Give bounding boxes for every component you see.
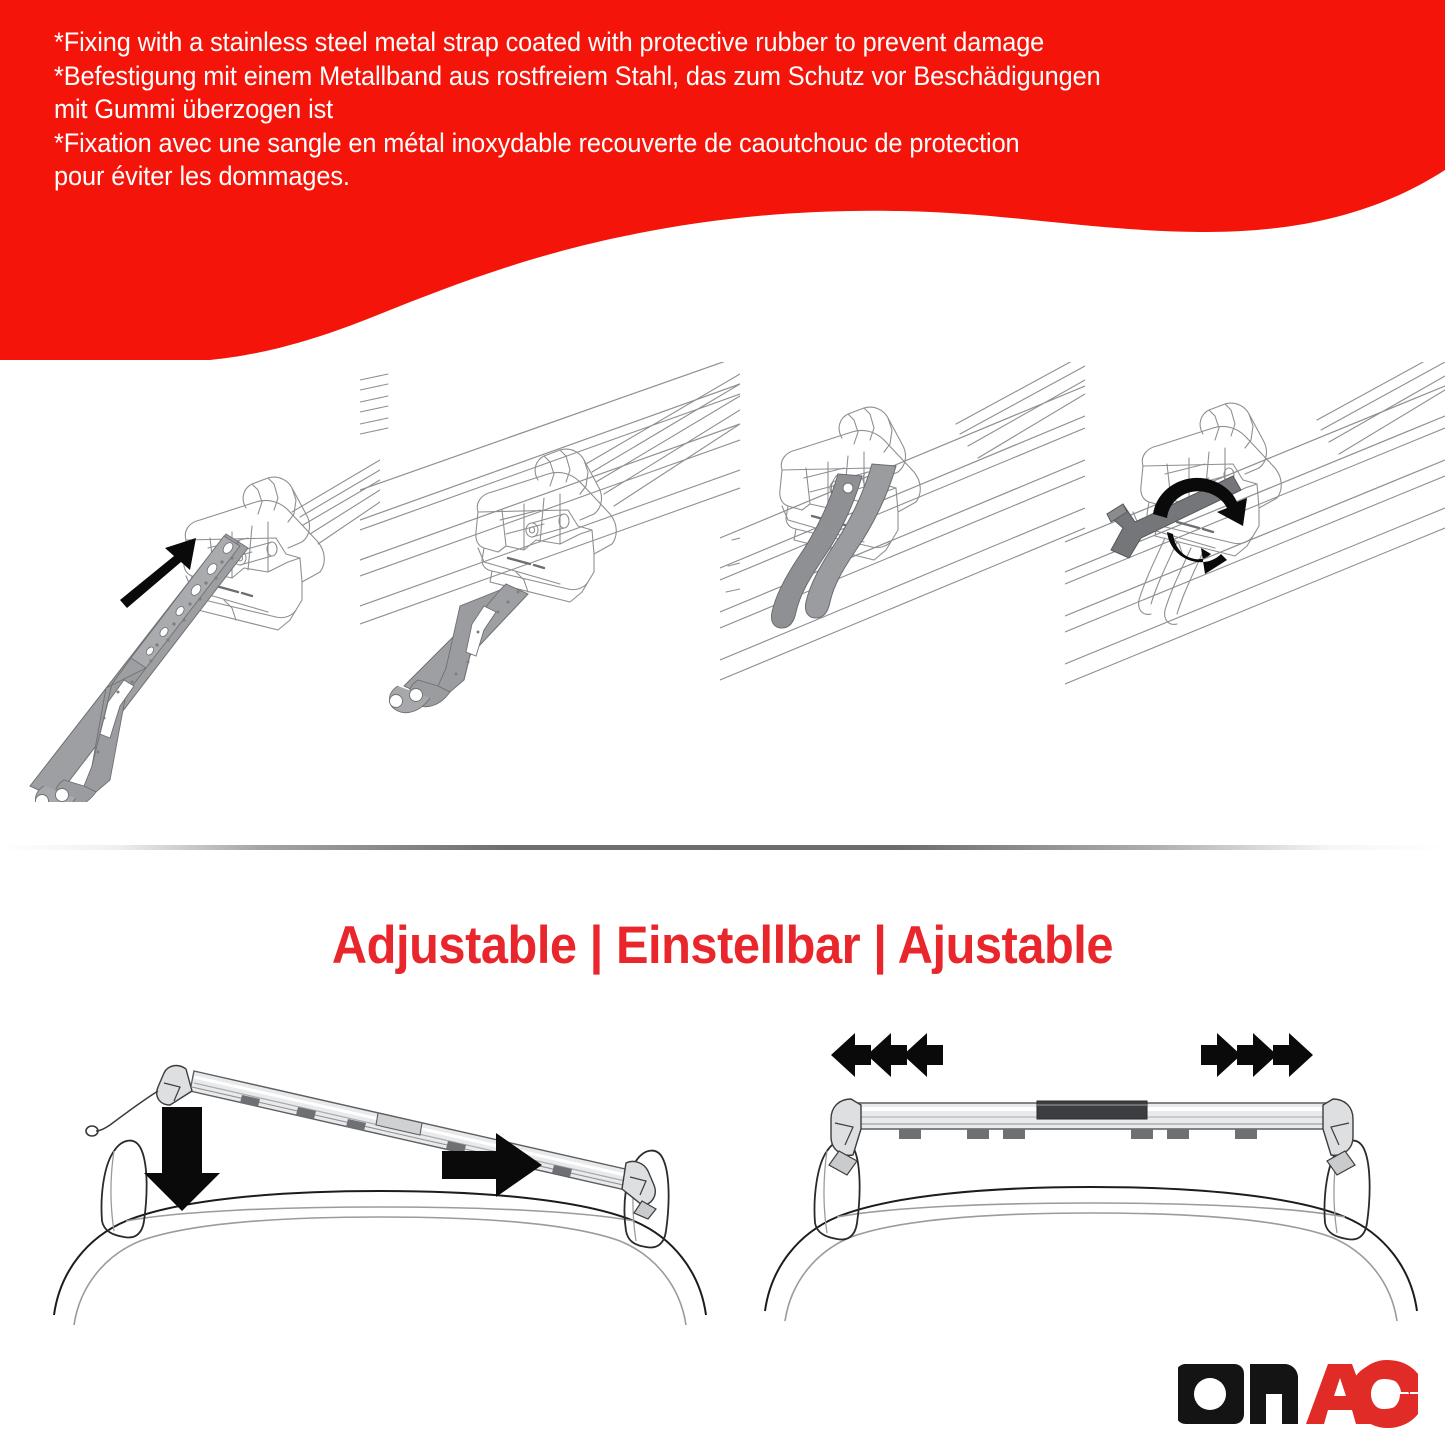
omac-logo-mark [1178, 1358, 1418, 1430]
banner: *Fixing with a stainless steel metal str… [0, 0, 1445, 360]
metal-strap [389, 584, 528, 713]
triple-right-arrow [1201, 1033, 1313, 1077]
product-infographic-page: *Fixing with a stainless steel metal str… [0, 0, 1445, 1445]
step-3-strap-wrapped [720, 362, 1085, 802]
logo-letter-o [1178, 1364, 1244, 1424]
down-arrow [144, 1107, 220, 1211]
triple-left-arrow [831, 1033, 943, 1077]
page-title: Adjustable | Einstellbar | Ajustable [58, 915, 1387, 976]
crossbar-width-adjust-drawing [735, 1025, 1435, 1345]
step-2-foot-on-rail [360, 362, 740, 802]
installation-steps [0, 362, 1445, 802]
step-1-strap-insert [0, 362, 380, 802]
step-3-drawing [720, 362, 1085, 802]
logo-letter-m [1250, 1364, 1298, 1424]
crossbar-placement-illustration [30, 1025, 730, 1350]
step-1-drawing [0, 362, 380, 802]
metal-strap [30, 534, 248, 802]
step-2-drawing [360, 362, 740, 802]
banner-text: *Fixing with a stainless steel metal str… [54, 26, 1372, 194]
step-4-tighten-bolt [1065, 362, 1445, 802]
crossbar-width-adjust-illustration [735, 1025, 1435, 1350]
crossbar-placement-drawing [30, 1025, 730, 1345]
crossbar [829, 1099, 1355, 1175]
bottom-illustrations [0, 1025, 1445, 1345]
step-4-drawing [1065, 362, 1445, 802]
section-divider [0, 845, 1445, 850]
omac-logo [1178, 1358, 1418, 1430]
